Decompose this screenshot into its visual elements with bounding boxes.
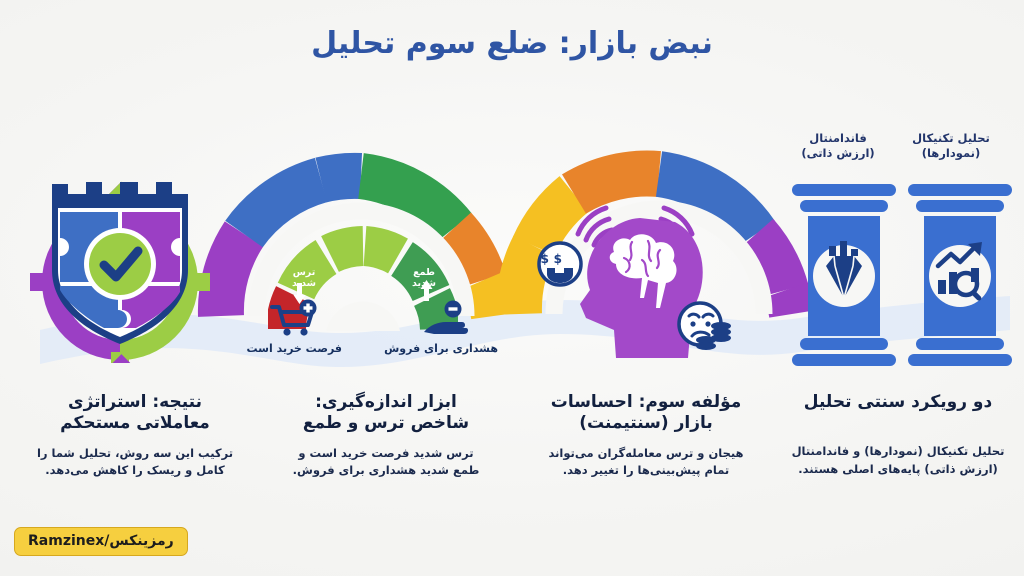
column-measurement-tool: ابزار اندازه‌گیری: شاخص ترس و طمع ترس شد…: [266, 392, 506, 480]
column-traditional-heading-line1: دو رویکرد سنتی تحلیل: [778, 392, 1018, 413]
pillar-technical-line2: (نمودارها): [896, 146, 1006, 161]
column-sentiment-body: هیجان و ترس معامله‌گران می‌تواند تمام پی…: [518, 445, 774, 481]
pillar-caption-technical: تحلیل تکنیکال (نمودارها): [896, 131, 1006, 161]
shopping-cart-plus-icon: [268, 298, 320, 340]
column-sentiment-heading: مؤلفه سوم: احساسات بازار (سنتیمنت): [518, 392, 774, 435]
column-sentiment-body-line1: هیجان و ترس معامله‌گران می‌تواند: [518, 445, 774, 463]
buy-caption: فرصت خرید است: [250, 342, 342, 355]
column-sentiment-heading-line2: بازار (سنتیمنت): [518, 413, 774, 434]
column-sentiment-body-line2: تمام پیش‌بینی‌ها را تغییر دهد.: [518, 462, 774, 480]
column-result-heading: نتیجه: استراتژی معاملاتی مستحکم: [16, 392, 254, 435]
svg-text:$: $: [541, 252, 549, 266]
analysis-pillars: [788, 180, 1023, 370]
column-result-heading-line2: معاملاتی مستحکم: [16, 413, 254, 434]
column-measurement-heading-line2: شاخص ترس و طمع: [266, 413, 506, 434]
svg-text:$: $: [554, 252, 562, 266]
pillar-caption-fundamental: فاندامنتال (ارزش ذاتی): [786, 131, 890, 161]
column-measurement-body-line2: طمع شدید هشداری برای فروش.: [266, 462, 506, 480]
column-result: نتیجه: استراتژی معاملاتی مستحکم ترکیب ای…: [16, 392, 254, 480]
column-traditional-approaches: دو رویکرد سنتی تحلیل تحلیل تکنیکال (نمود…: [778, 392, 1018, 479]
sell-caption: هشداری برای فروش: [398, 342, 498, 355]
infographic-canvas: نبض بازار: ضلع سوم تحلیل: [0, 0, 1024, 576]
gauge-greed-label-line2: شدید: [404, 279, 444, 290]
pillar-fundamental-line1: فاندامنتال: [786, 131, 890, 146]
gauge-fear-label: ترس شدید: [284, 268, 324, 289]
column-sentiment-heading-line1: مؤلفه سوم: احساسات: [518, 392, 774, 413]
column-measurement-heading-line1: ابزار اندازه‌گیری:: [266, 392, 506, 413]
column-result-body: ترکیب این سه روش، تحلیل شما را کامل و ری…: [16, 445, 254, 481]
column-traditional-body: تحلیل تکنیکال (نمودارها) و فاندامنتال (ا…: [778, 443, 1018, 479]
pillar-technical-line1: تحلیل تکنیکال: [896, 131, 1006, 146]
brand-badge: رمزینکس/Ramzinex: [14, 527, 188, 556]
column-result-heading-line1: نتیجه: استراتژی: [16, 392, 254, 413]
column-measurement-heading: ابزار اندازه‌گیری: شاخص ترس و طمع: [266, 392, 506, 435]
money-mouth-face-icon: $ $: [539, 243, 581, 285]
gauge-greed-label: طمع شدید: [404, 268, 444, 289]
pillar-fundamental-line2: (ارزش ذاتی): [786, 146, 890, 161]
column-measurement-body-line1: ترس شدید فرصت خرید است و: [266, 445, 506, 463]
pillar-technical: [908, 184, 1012, 366]
column-measurement-body: ترس شدید فرصت خرید است و طمع شدید هشداری…: [266, 445, 506, 481]
head-brain-icon: $ $: [520, 198, 750, 363]
column-traditional-body-line2: (ارزش ذاتی) پایه‌های اصلی هستند.: [778, 461, 1018, 479]
column-sentiment: مؤلفه سوم: احساسات بازار (سنتیمنت) هیجان…: [518, 392, 774, 480]
column-result-body-line1: ترکیب این سه روش، تحلیل شما را: [16, 445, 254, 463]
column-traditional-body-line1: تحلیل تکنیکال (نمودارها) و فاندامنتال: [778, 443, 1018, 461]
shield-puzzle-check-gear-icon: [20, 178, 220, 363]
column-result-body-line2: کامل و ریسک را کاهش می‌دهد.: [16, 462, 254, 480]
hand-minus-icon: [420, 298, 472, 340]
gauge-fear-label-line2: شدید: [284, 279, 324, 290]
column-traditional-heading: دو رویکرد سنتی تحلیل: [778, 392, 1018, 413]
pillar-fundamental: [792, 184, 896, 366]
page-title: نبض بازار: ضلع سوم تحلیل: [0, 26, 1024, 61]
